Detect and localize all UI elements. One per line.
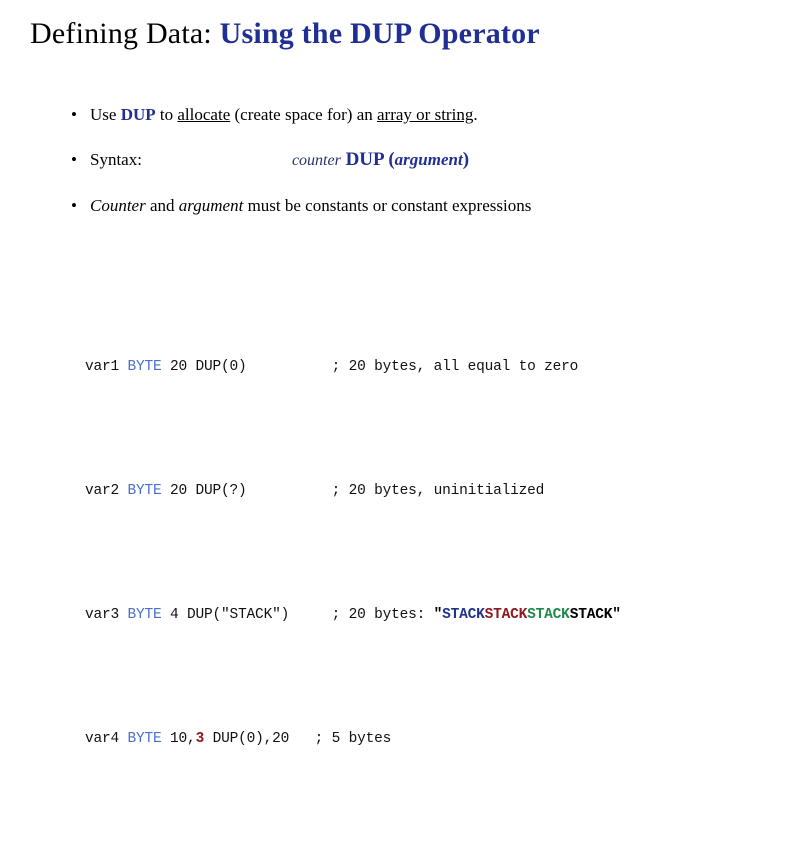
bullet-1-text-a: Use [90, 105, 121, 124]
syntax-argument-token: argument [395, 150, 463, 169]
list-item: •Syntax:counter DUP (argument) [68, 149, 768, 172]
bullet-3-italic-counter: Counter [90, 196, 146, 215]
bullet-3-text-a: and [146, 196, 179, 215]
stack-rep-3: STACK [527, 607, 570, 623]
bullet-marker-icon: • [71, 149, 77, 171]
stack-rep-2: STACK [485, 607, 528, 623]
bullet-1-text-b: to [156, 105, 178, 124]
title-accent-text: Using the DUP Operator [220, 17, 540, 50]
code-comment: ; 5 bytes [315, 731, 392, 747]
code-operand: 4 DUP("STACK") [162, 607, 290, 623]
code-keyword-byte: BYTE [128, 483, 162, 499]
bullet-1-underline-array-or-string: array or string [377, 105, 473, 124]
code-block: var1 BYTE 20 DUP(0) ; 20 bytes, all equa… [85, 259, 621, 848]
code-pad [289, 607, 332, 623]
bullet-1-keyword-dup: DUP [121, 105, 156, 124]
bullet-1-underline-allocate: allocate [177, 105, 230, 124]
code-var-name: var4 [85, 731, 119, 747]
bullet-marker-icon: • [71, 195, 77, 217]
code-operand-pre: 10, [162, 731, 196, 747]
code-var-name: var1 [85, 359, 119, 375]
code-pad [289, 731, 315, 747]
code-highlight-count: 3 [196, 731, 205, 747]
title-plain-text: Defining Data: [30, 17, 220, 50]
page-title: Defining Data: Using the DUP Operator [30, 14, 790, 54]
code-var-name: var2 [85, 483, 119, 499]
syntax-counter-token: counter [292, 152, 341, 169]
code-pad [247, 483, 332, 499]
bullet-list: •Use DUP to allocate (create space for) … [68, 104, 768, 240]
code-line-var3: var3 BYTE 4 DUP("STACK") ; 20 bytes: "ST… [85, 600, 621, 631]
code-operand: 20 DUP(0) [162, 359, 247, 375]
bullet-marker-icon: • [71, 104, 77, 126]
code-operand: 20 DUP(?) [162, 483, 247, 499]
code-operand-post: DUP(0),20 [204, 731, 289, 747]
code-line-var2: var2 BYTE 20 DUP(?) ; 20 bytes, uninitia… [85, 476, 621, 507]
stack-rep-1: STACK [442, 607, 485, 623]
syntax-close-paren: ) [463, 149, 469, 170]
code-keyword-byte: BYTE [128, 359, 162, 375]
bullet-1-text-c: (create space for) an [230, 105, 377, 124]
code-space [119, 731, 128, 747]
code-comment: ; 20 bytes, all equal to zero [332, 359, 579, 375]
code-space [119, 607, 128, 623]
list-item: •Use DUP to allocate (create space for) … [68, 104, 768, 126]
code-var-name: var3 [85, 607, 119, 623]
stack-rep-4: STACK [570, 607, 613, 623]
code-comment: ; 20 bytes, uninitialized [332, 483, 545, 499]
code-space [119, 483, 128, 499]
code-line-var4: var4 BYTE 10,3 DUP(0),20 ; 5 bytes [85, 724, 621, 755]
code-pad [247, 359, 332, 375]
list-item: •Counter and argument must be constants … [68, 195, 768, 217]
bullet-3-text-b: must be constants or constant expression… [243, 196, 531, 215]
stack-quote-open: " [434, 607, 443, 623]
code-line-var1: var1 BYTE 20 DUP(0) ; 20 bytes, all equa… [85, 352, 621, 383]
code-space [119, 359, 128, 375]
syntax-dup-open-paren: DUP ( [346, 149, 395, 170]
code-keyword-byte: BYTE [128, 731, 162, 747]
code-keyword-byte: BYTE [128, 607, 162, 623]
stack-quote-close: " [612, 607, 621, 623]
slide-canvas: Defining Data: Using the DUP Operator •U… [0, 0, 812, 435]
code-comment: ; 20 bytes: [332, 607, 434, 623]
bullet-2-label-syntax: Syntax: [90, 150, 142, 169]
bullet-3-italic-argument: argument [179, 196, 244, 215]
bullet-1-text-d: . [473, 105, 477, 124]
